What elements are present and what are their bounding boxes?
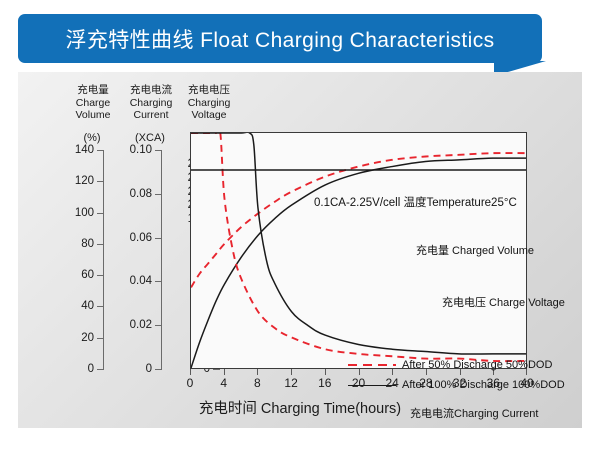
- y-axis-charge-volume: 020406080100120140: [48, 150, 104, 369]
- axis-headers: 充电量 Charge Volume 充电电流 Charging Current …: [18, 72, 582, 130]
- axis-tick: [155, 194, 162, 195]
- curve-solid: [191, 158, 526, 368]
- axis-tick: [97, 338, 104, 339]
- axis-header-charge-volume: 充电量 Charge Volume: [60, 84, 126, 122]
- legend-label: After 100% Discharge 100%DOD: [402, 379, 565, 391]
- axis-tick-label: 40: [81, 300, 94, 312]
- x-axis-tick: [224, 369, 225, 375]
- legend-swatch-solid-icon: [348, 380, 396, 390]
- axis-header-cn: 充电量: [60, 84, 126, 97]
- chart-panel: 充电量 Charge Volume 充电电流 Charging Current …: [18, 72, 582, 428]
- axis-tick-label: 0: [146, 363, 152, 375]
- axis-tick: [97, 306, 104, 307]
- axis-tick: [97, 213, 104, 214]
- axis-header-cn: 充电电压: [176, 84, 242, 97]
- legend: After 50% Discharge 50%DOD After 100% Di…: [348, 355, 558, 395]
- axis-header-charging-current: 充电电流 Charging Current: [118, 84, 184, 122]
- axis-header-en1: Charging: [176, 97, 242, 110]
- x-axis-tick: [325, 369, 326, 375]
- axis-header-en1: Charge: [60, 97, 126, 110]
- x-axis-tick: [257, 369, 258, 375]
- axis-tick: [155, 281, 162, 282]
- axis-tick-label: 100: [75, 207, 94, 219]
- axis-tick: [97, 150, 104, 151]
- axis-header-en2: Current: [118, 109, 184, 122]
- axis-header-cn: 充电电流: [118, 84, 184, 97]
- unit-charging-current: (XCA): [120, 132, 180, 144]
- axis-header-charging-voltage: 充电电压 Charging Voltage: [176, 84, 242, 122]
- x-axis-tick-label: 4: [220, 376, 227, 390]
- axis-tick-label: 140: [75, 144, 94, 156]
- header-banner: 浮充特性曲线 Float Charging Characteristics: [18, 14, 542, 76]
- axis-tick: [97, 275, 104, 276]
- axis-spine: [103, 150, 104, 369]
- chart-page: 浮充特性曲线 Float Charging Characteristics 充电…: [0, 0, 600, 451]
- curve-label-charge-voltage: 充电电压 Charge Voltage: [442, 294, 565, 310]
- x-axis-title: 充电时间 Charging Time(hours): [18, 397, 582, 418]
- legend-label: After 50% Discharge 50%DOD: [402, 359, 552, 371]
- axis-header-en2: Volume: [60, 109, 126, 122]
- x-axis-tick: [291, 369, 292, 375]
- curve-label-charged-volume: 充电量 Charged Volume: [416, 242, 534, 258]
- axis-tick: [97, 369, 104, 370]
- axis-tick: [97, 244, 104, 245]
- legend-item-50dod: After 50% Discharge 50%DOD: [348, 355, 558, 375]
- x-axis-tick-label: 16: [318, 376, 331, 390]
- axis-tick-label: 0.08: [130, 188, 152, 200]
- axis-spine: [161, 150, 162, 369]
- axis-tick-label: 20: [81, 332, 94, 344]
- axis-tick: [155, 369, 162, 370]
- x-axis-tick-label: 12: [284, 376, 297, 390]
- axis-tick: [97, 181, 104, 182]
- legend-item-100dod: After 100% Discharge 100%DOD: [348, 375, 558, 395]
- x-axis-tick-label: 8: [254, 376, 261, 390]
- axis-tick-label: 80: [81, 238, 94, 250]
- axis-header-en2: Voltage: [176, 109, 242, 122]
- axis-tick-label: 0.10: [130, 144, 152, 156]
- unit-charge-volume: (%): [62, 132, 122, 144]
- axis-tick-label: 0: [88, 363, 94, 375]
- axis-tick: [155, 325, 162, 326]
- banner-body: 浮充特性曲线 Float Charging Characteristics: [18, 14, 542, 63]
- y-axis-charging-current: 00.020.040.060.080.10: [106, 150, 162, 369]
- x-axis-tick: [190, 369, 191, 375]
- axis-tick: [155, 150, 162, 151]
- axis-tick-label: 120: [75, 175, 94, 187]
- axis-tick-label: 0.06: [130, 232, 152, 244]
- axis-tick: [155, 238, 162, 239]
- legend-swatch-dashed-icon: [348, 360, 396, 370]
- page-title: 浮充特性曲线 Float Charging Characteristics: [65, 24, 494, 54]
- axis-tick-label: 60: [81, 269, 94, 281]
- axis-header-en1: Charging: [118, 97, 184, 110]
- axis-tick-label: 0.02: [130, 319, 152, 331]
- axis-tick-label: 0.04: [130, 275, 152, 287]
- x-axis-tick-label: 0: [187, 376, 194, 390]
- condition-note: 0.1CA-2.25V/cell 温度Temperature25°C: [314, 194, 517, 210]
